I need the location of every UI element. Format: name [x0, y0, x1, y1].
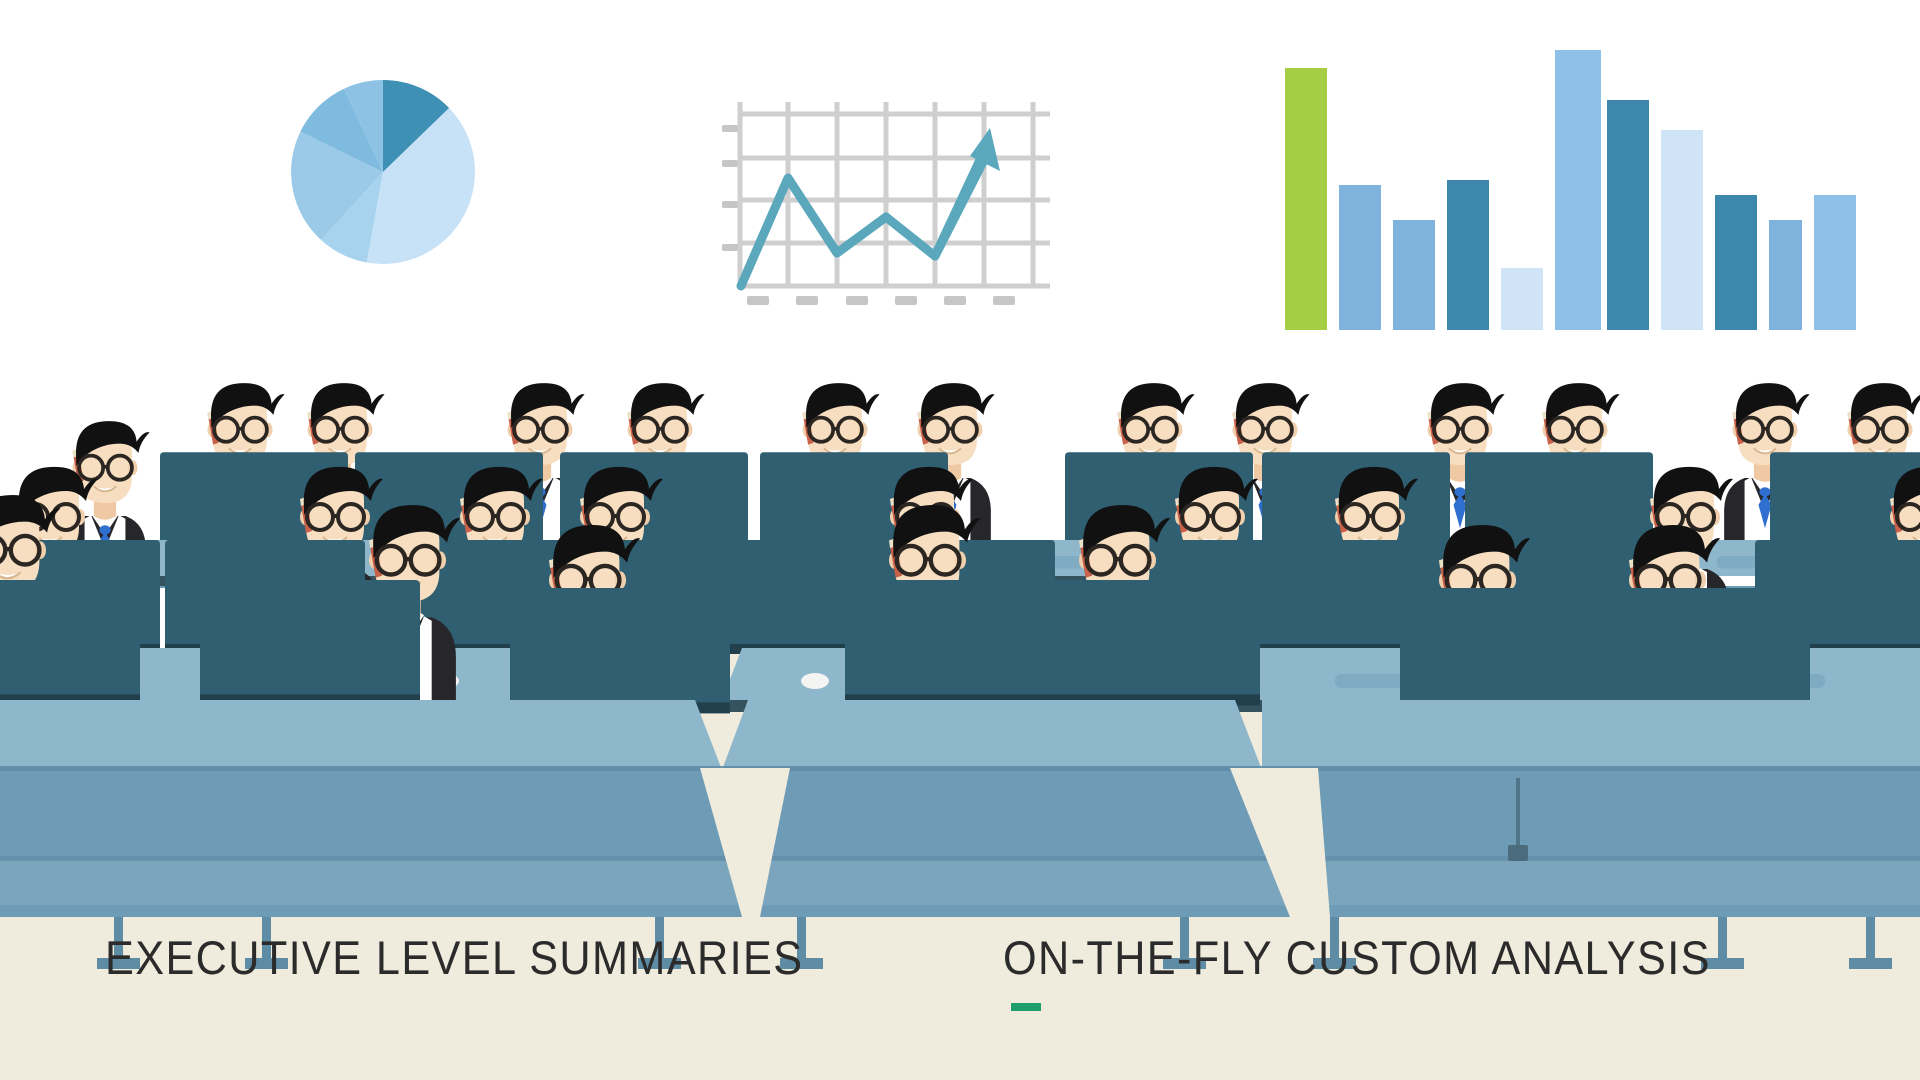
caption-on-the-fly-custom-analysis: ON-THE-FLY CUSTOM ANALYSIS: [1003, 930, 1711, 985]
office-scene: [0, 0, 1920, 1080]
captions: EXECUTIVE LEVEL SUMMARIES ON-THE-FLY CUS…: [0, 930, 1920, 1050]
caption-executive-level-summaries: EXECUTIVE LEVEL SUMMARIES: [105, 930, 803, 985]
illustration-canvas: EXECUTIVE LEVEL SUMMARIES ON-THE-FLY CUS…: [0, 0, 1920, 1080]
row-front: [0, 766, 1920, 917]
green-accent-underline: [1011, 1003, 1041, 1011]
